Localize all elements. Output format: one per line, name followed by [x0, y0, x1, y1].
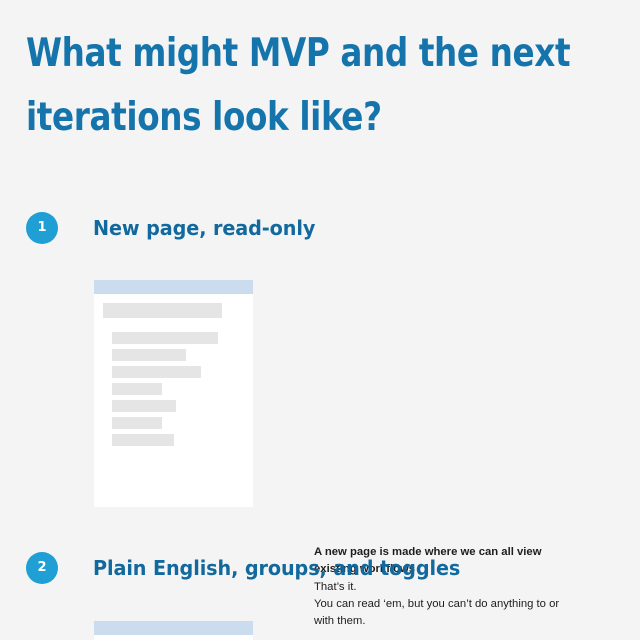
- page-title: What might MVP and the next iterations l…: [26, 22, 584, 150]
- section-2-number-badge: 2: [26, 552, 58, 584]
- mockup-placeholder-line: [112, 400, 176, 412]
- section-2: 2 Plain English, groups, and toggles: [0, 546, 640, 590]
- slide-page: What might MVP and the next iterations l…: [0, 0, 640, 640]
- document-mockup-1: [94, 280, 253, 507]
- mockup-placeholder-line: [112, 366, 201, 378]
- mockup-placeholder-line: [112, 434, 174, 446]
- mockup-placeholder-line: [112, 383, 162, 395]
- mockup-2-page-body: [94, 635, 253, 640]
- section-1-title: New page, read-only: [93, 212, 315, 244]
- mockup-placeholder-line: [112, 417, 162, 429]
- mockup-placeholder-line: [112, 332, 218, 344]
- section-2-header: 2 Plain English, groups, and toggles: [0, 546, 640, 590]
- mockup-placeholder-line: [103, 303, 222, 318]
- section-2-title: Plain English, groups, and toggles: [93, 552, 460, 584]
- mockup-1-page-body: [94, 294, 253, 507]
- document-mockup-2: [94, 621, 253, 640]
- section-1: 1 New page, read-only A new page is made…: [0, 206, 640, 250]
- copy-line-3: You can read ‘em, but you can’t do anyth…: [314, 596, 562, 631]
- mockup-1-header-bar: [94, 280, 253, 294]
- section-1-header: 1 New page, read-only: [0, 206, 640, 250]
- mockup-2-header-bar: [94, 621, 253, 635]
- section-1-number-badge: 1: [26, 212, 58, 244]
- mockup-placeholder-line: [112, 349, 186, 361]
